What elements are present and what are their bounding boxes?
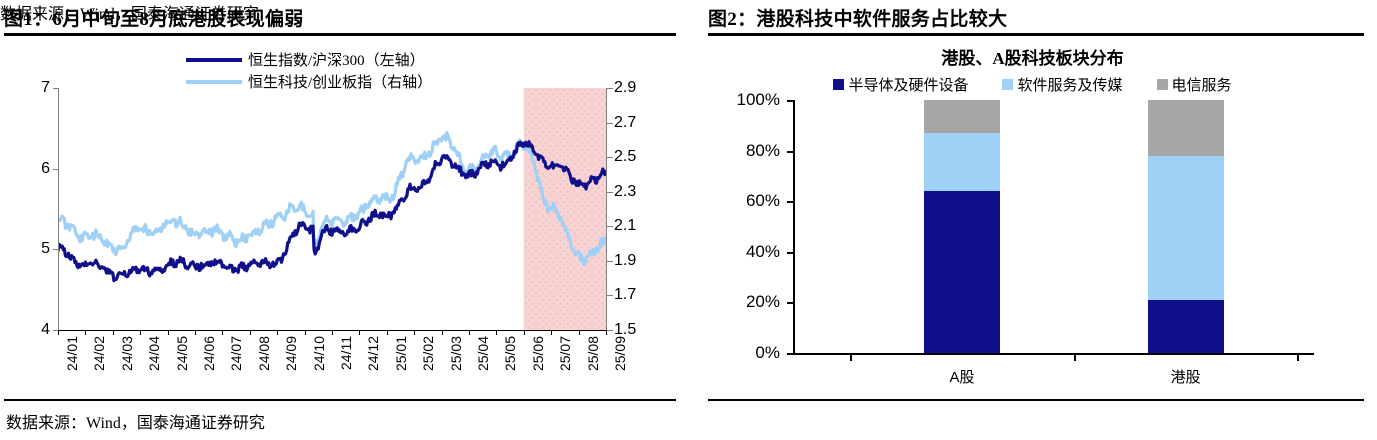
figure1-line-svg <box>58 88 606 330</box>
figure1-x-tick-label: 25/05 <box>502 336 518 371</box>
figure1-y2-tick-label: 2.5 <box>614 148 636 166</box>
figure2-bottom-rule <box>708 399 1364 401</box>
figure1-y2-tick <box>607 123 613 124</box>
figure1-y-tick <box>53 249 58 250</box>
figure1-x-tick <box>551 330 552 335</box>
figure1-x-tick-label: 25/08 <box>585 336 601 371</box>
figure1-x-tick <box>579 330 580 335</box>
legend-line-swatch-lightblue <box>186 80 242 84</box>
figure1-y2-tick <box>607 226 613 227</box>
figure1-x-tick-label: 25/01 <box>393 336 409 371</box>
figure1-chart: 恒生指数/沪深300（左轴） 恒生科技/创业板指（右轴） <box>0 36 688 396</box>
figure1-x-tick-label: 24/03 <box>119 336 135 371</box>
figure1-x-tick <box>222 330 223 335</box>
figure1-y-tick <box>53 169 58 170</box>
figure1-x-tick-label: 24/02 <box>91 336 107 371</box>
figure1-x-tick <box>524 330 525 335</box>
figure1-y-tick <box>53 88 58 89</box>
figure-pair-page: 图1：6月中旬至8月底港股表现偏弱 恒生指数/沪深300（左轴） 恒生科技/创业… <box>0 0 1377 440</box>
figure1-x-tick-label: 25/04 <box>475 336 491 371</box>
figure1-x-tick <box>414 330 415 335</box>
figure1-panel: 图1：6月中旬至8月底港股表现偏弱 恒生指数/沪深300（左轴） 恒生科技/创业… <box>0 0 688 440</box>
figure1-y-tick-label: 5 <box>14 240 50 258</box>
figure1-x-tick <box>85 330 86 335</box>
figure1-x-tick-label: 24/12 <box>365 336 381 371</box>
figure1-x-tick <box>277 330 278 335</box>
figure1-x-tick-label: 24/08 <box>256 336 272 371</box>
figure1-y-axis-left-line <box>58 88 59 331</box>
figure1-x-tick-label: 24/06 <box>201 336 217 371</box>
figure2-source: 数据来源：Wind，国泰海通证券研究 <box>0 0 259 24</box>
figure1-y2-tick <box>607 330 613 331</box>
figure1-x-tick-label: 24/09 <box>283 336 299 371</box>
figure1-x-tick-label: 25/09 <box>612 336 628 371</box>
figure1-y2-tick-label: 2.3 <box>614 183 636 201</box>
figure1-x-tick <box>332 330 333 335</box>
figure1-x-tick <box>387 330 388 335</box>
figure1-x-tick-label: 25/03 <box>448 336 464 371</box>
figure1-bottom-rule <box>4 399 676 401</box>
figure1-y-tick-label: 7 <box>14 79 50 97</box>
figure1-y2-tick <box>607 261 613 262</box>
figure1-x-tick-label: 24/10 <box>311 336 327 371</box>
figure1-x-tick <box>168 330 169 335</box>
figure1-x-tick <box>606 330 607 335</box>
figure1-x-tick <box>442 330 443 335</box>
figure1-y2-tick-label: 1.9 <box>614 252 636 270</box>
legend-label-hsi-csi300: 恒生指数/沪深300（左轴） <box>248 49 425 70</box>
figure1-legend: 恒生指数/沪深300（左轴） 恒生科技/创业板指（右轴） <box>186 50 432 91</box>
figure1-x-tick <box>58 330 59 335</box>
figure1-y-tick-label: 4 <box>14 321 50 339</box>
figure1-y2-tick <box>607 157 613 158</box>
figure1-x-tick <box>469 330 470 335</box>
figure1-x-tick-label: 24/11 <box>338 336 354 370</box>
legend-item-hsi-csi300: 恒生指数/沪深300（左轴） <box>186 50 432 69</box>
figure1-x-tick-label: 25/02 <box>420 336 436 371</box>
figure1-y2-tick-label: 1.7 <box>614 286 636 304</box>
figure1-y2-tick <box>607 88 613 89</box>
figure1-y2-tick-label: 2.9 <box>614 79 636 97</box>
figure1-x-tick <box>359 330 360 335</box>
figure1-x-tick <box>250 330 251 335</box>
figure1-x-tick <box>496 330 497 335</box>
figure1-x-tick-label: 24/04 <box>146 336 162 371</box>
figure1-y2-tick-label: 2.7 <box>614 114 636 132</box>
figure1-plot-area <box>58 88 606 330</box>
figure2-panel-footer <box>688 0 1377 440</box>
figure1-x-tick <box>113 330 114 335</box>
figure1-x-tick-label: 24/01 <box>64 336 80 371</box>
figure1-x-tick <box>140 330 141 335</box>
figure1-source: 数据来源：Wind，国泰海通证券研究 <box>6 409 265 433</box>
figure1-x-tick-label: 25/07 <box>557 336 573 371</box>
figure1-y2-tick-label: 2.1 <box>614 217 636 235</box>
figure1-y-tick-label: 6 <box>14 160 50 178</box>
legend-line-swatch-navy <box>186 58 242 62</box>
figure1-y2-tick <box>607 295 613 296</box>
figure1-x-tick-label: 24/05 <box>174 336 190 371</box>
figure1-x-tick-label: 24/07 <box>228 336 244 371</box>
figure1-x-tick <box>195 330 196 335</box>
figure1-shaded-region <box>524 88 606 330</box>
figure1-x-tick <box>305 330 306 335</box>
figure1-y2-tick <box>607 192 613 193</box>
figure1-x-tick-label: 25/06 <box>530 336 546 371</box>
